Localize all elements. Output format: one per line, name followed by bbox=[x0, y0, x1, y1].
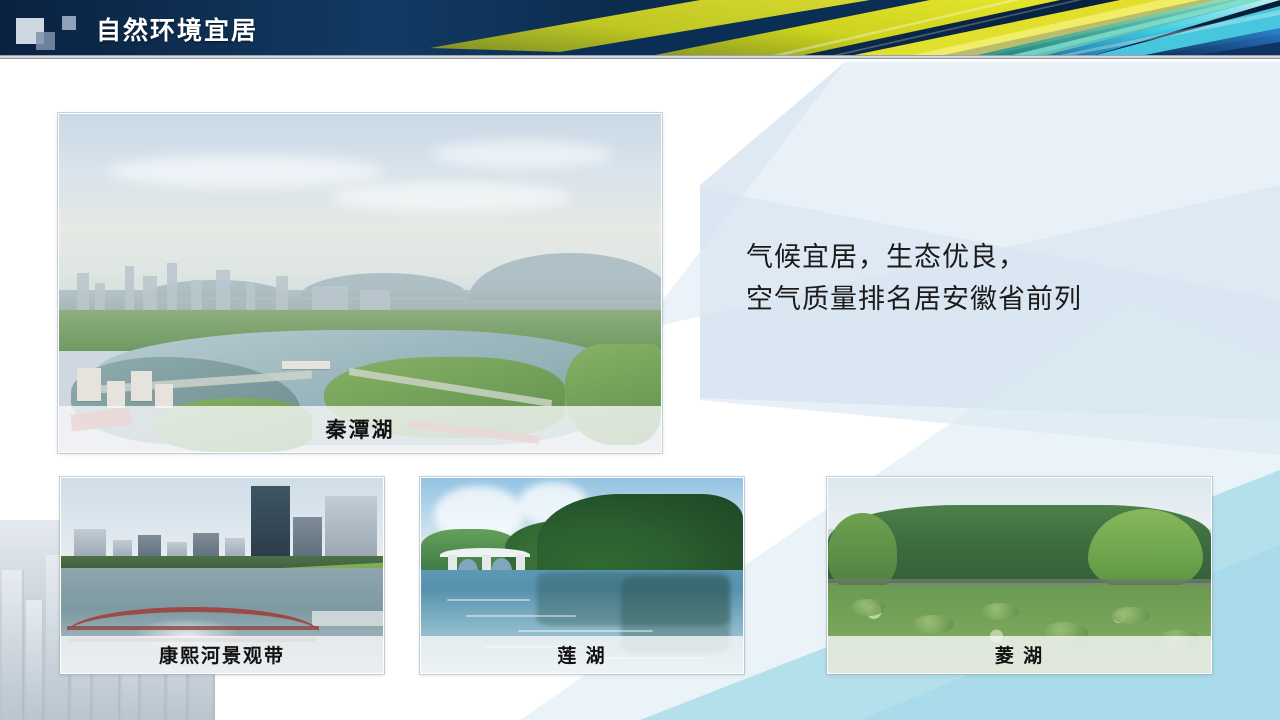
photo-caption: 秦潭湖 bbox=[59, 406, 661, 452]
featured-photo-qintan-lake[interactable]: 秦潭湖 bbox=[58, 113, 662, 453]
header-bar: 自然环境宜居 bbox=[0, 0, 1280, 58]
statement-panel: 气候宜居，生态优良， 空气质量排名居安徽省前列 bbox=[700, 180, 1260, 395]
statement-text: 气候宜居，生态优良， 空气质量排名居安徽省前列 bbox=[746, 236, 1246, 320]
page-title: 自然环境宜居 bbox=[96, 11, 258, 47]
photo-lian-lake[interactable]: 莲 湖 bbox=[420, 477, 744, 674]
photo-ling-lake[interactable]: 菱 湖 bbox=[827, 477, 1212, 674]
photo-kangxi-river[interactable]: 康熙河景观带 bbox=[60, 477, 384, 674]
header-underline bbox=[0, 55, 1280, 59]
photo-caption: 菱 湖 bbox=[828, 636, 1211, 673]
white-arch-bridge bbox=[440, 548, 530, 571]
photo-caption: 康熙河景观带 bbox=[61, 636, 383, 673]
photo-image-qintan-lake bbox=[59, 114, 661, 452]
three-squares-logo-icon bbox=[10, 14, 72, 48]
slide-root: 自然环境宜居 bbox=[0, 0, 1280, 720]
photo-caption: 莲 湖 bbox=[421, 636, 743, 673]
